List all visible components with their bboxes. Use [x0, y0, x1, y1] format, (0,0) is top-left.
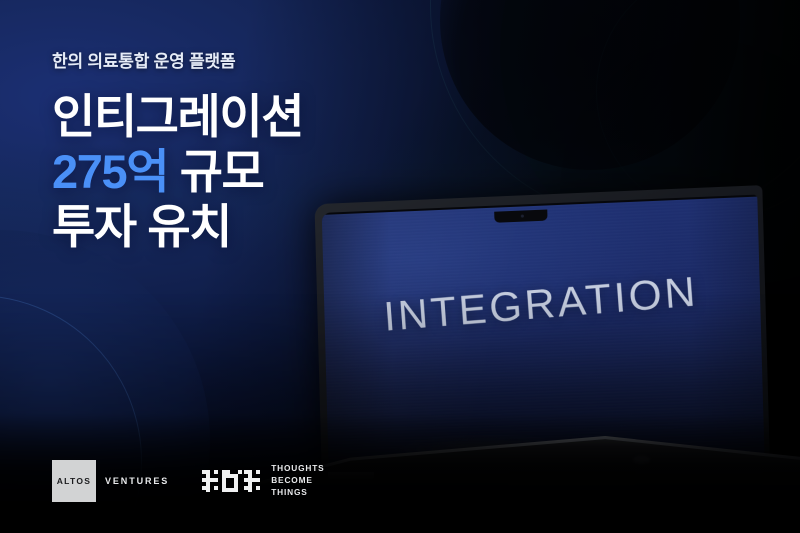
altos-mark-text: ALTOS	[57, 476, 92, 486]
thoughts-become-things-logo: THOUGHTS BECOME THINGS	[202, 463, 324, 498]
headline-block: 한의 의료통합 운영 플랫폼 인티그레이션 275억 규모 투자 유치	[52, 47, 303, 255]
poster-canvas: INTEGRATION 한의 의료통합 운영 플랫폼 인티그레이션 275억 규…	[0, 0, 800, 533]
tbt-word-line-1: THOUGHTS	[271, 463, 324, 475]
tbt-wordmark: THOUGHTS BECOME THINGS	[271, 463, 324, 498]
headline-line-3: 투자 유치	[52, 199, 303, 254]
headline-line-3-text: 투자 유치	[52, 200, 231, 253]
eyebrow-text: 한의 의료통합 운영 플랫폼	[52, 47, 303, 72]
headline-line-2: 275억 규모	[52, 144, 303, 199]
altos-mark-icon: ALTOS	[52, 460, 96, 502]
headline-line-2-rest: 규모	[168, 145, 263, 198]
page-title: 인티그레이션 275억 규모 투자 유치	[52, 89, 303, 255]
altos-ventures-logo: ALTOS VENTURES	[52, 460, 169, 502]
logo-row: ALTOS VENTURES	[52, 460, 325, 502]
headline-line-1: 인티그레이션	[52, 89, 303, 144]
tbt-pixel-monogram-icon	[202, 470, 260, 492]
headline-amount-accent: 275억	[52, 145, 168, 198]
tbt-word-line-2: BECOME	[271, 475, 324, 487]
altos-wordmark: VENTURES	[105, 476, 169, 486]
tbt-word-line-3: THINGS	[271, 487, 324, 499]
headline-line-1-text: 인티그레이션	[52, 90, 303, 143]
